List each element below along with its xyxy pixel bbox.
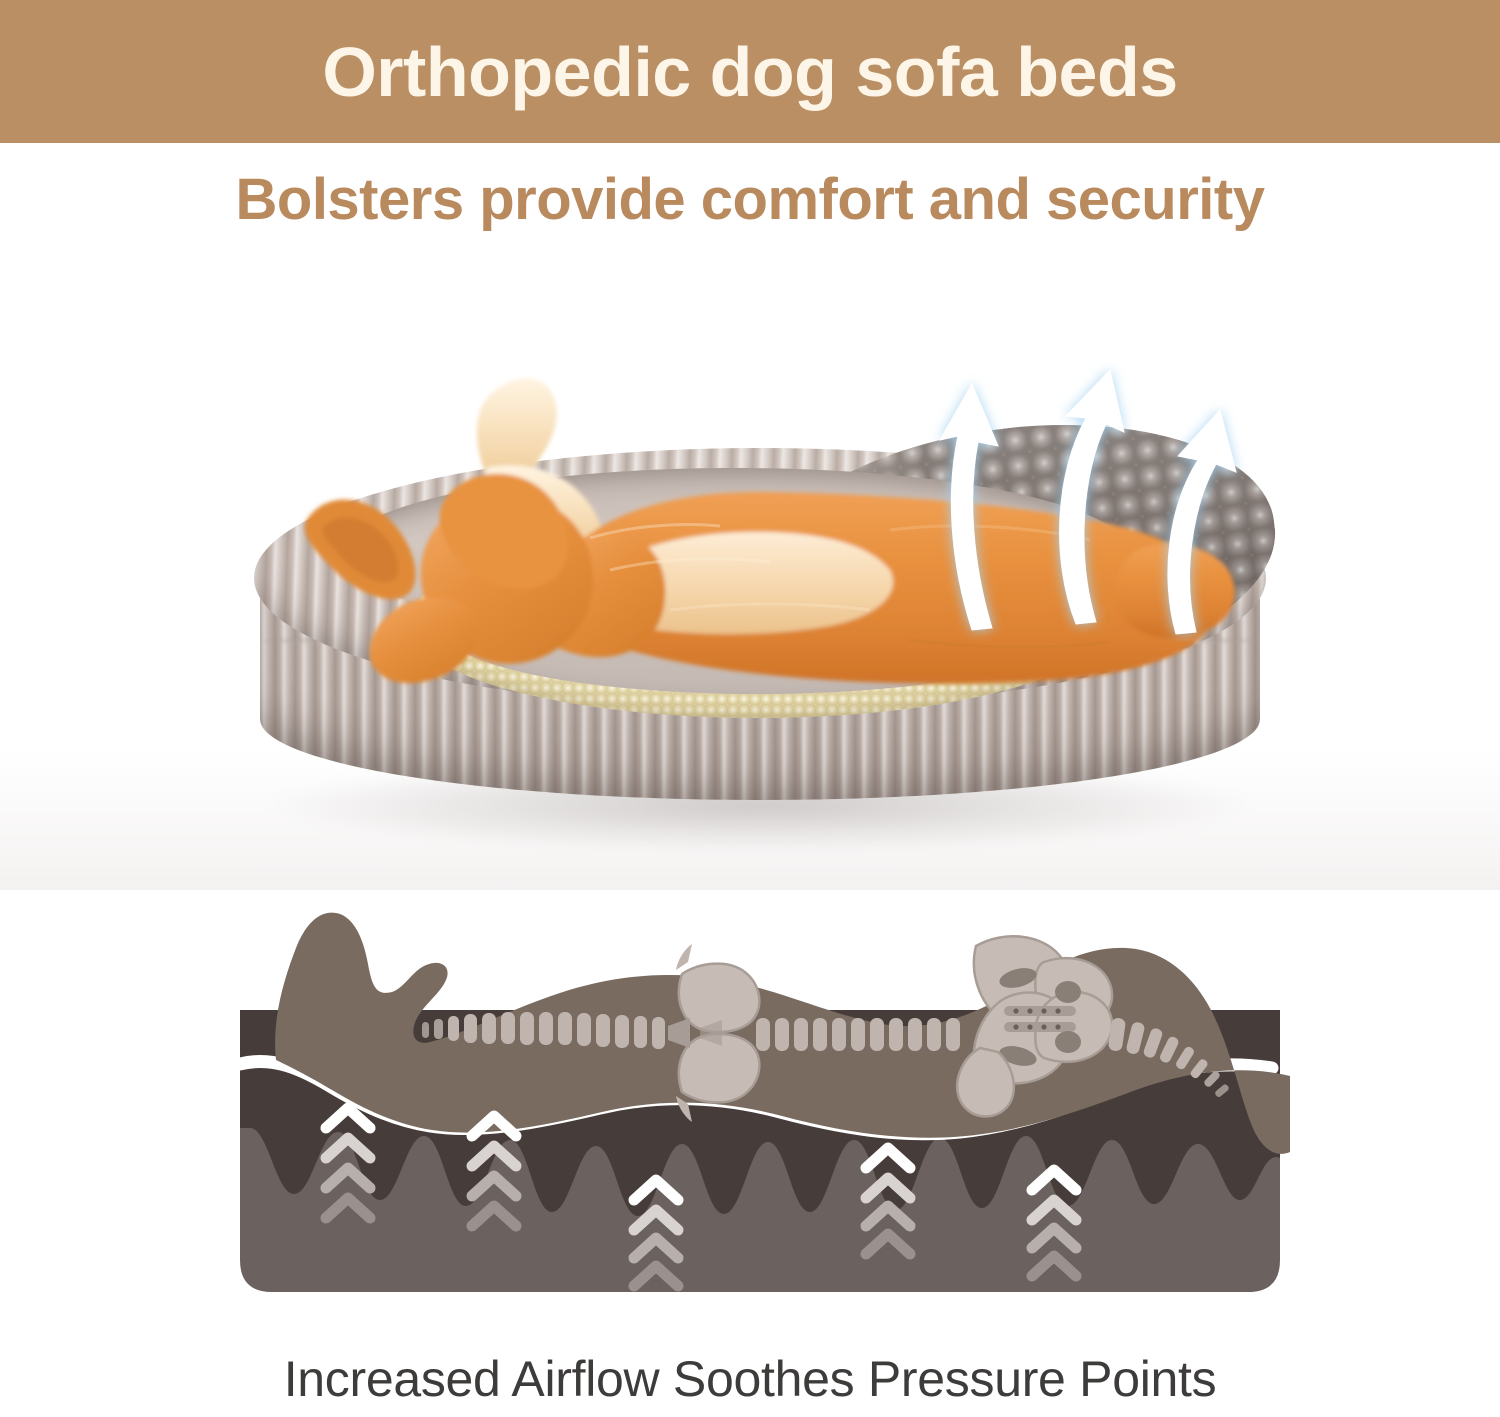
header-banner: Orthopedic dog sofa beds [0,0,1500,143]
dog-muzzle [370,598,479,683]
airflow-arrows-group [910,362,1270,642]
subtitle-text: Bolsters provide comfort and security [0,168,1500,232]
airflow-arrow-3 [1168,410,1236,634]
airflow-arrow-1 [940,384,998,630]
cutaway-diagram [0,900,1500,1320]
product-photo [0,300,1500,890]
spine-vertebrae-right [756,1018,960,1051]
dog-bed [250,370,1270,840]
airflow-arrow-2 [1060,370,1124,624]
bottom-caption: Increased Airflow Soothes Pressure Point… [0,1352,1500,1407]
page-title: Orthopedic dog sofa beds [322,37,1177,107]
